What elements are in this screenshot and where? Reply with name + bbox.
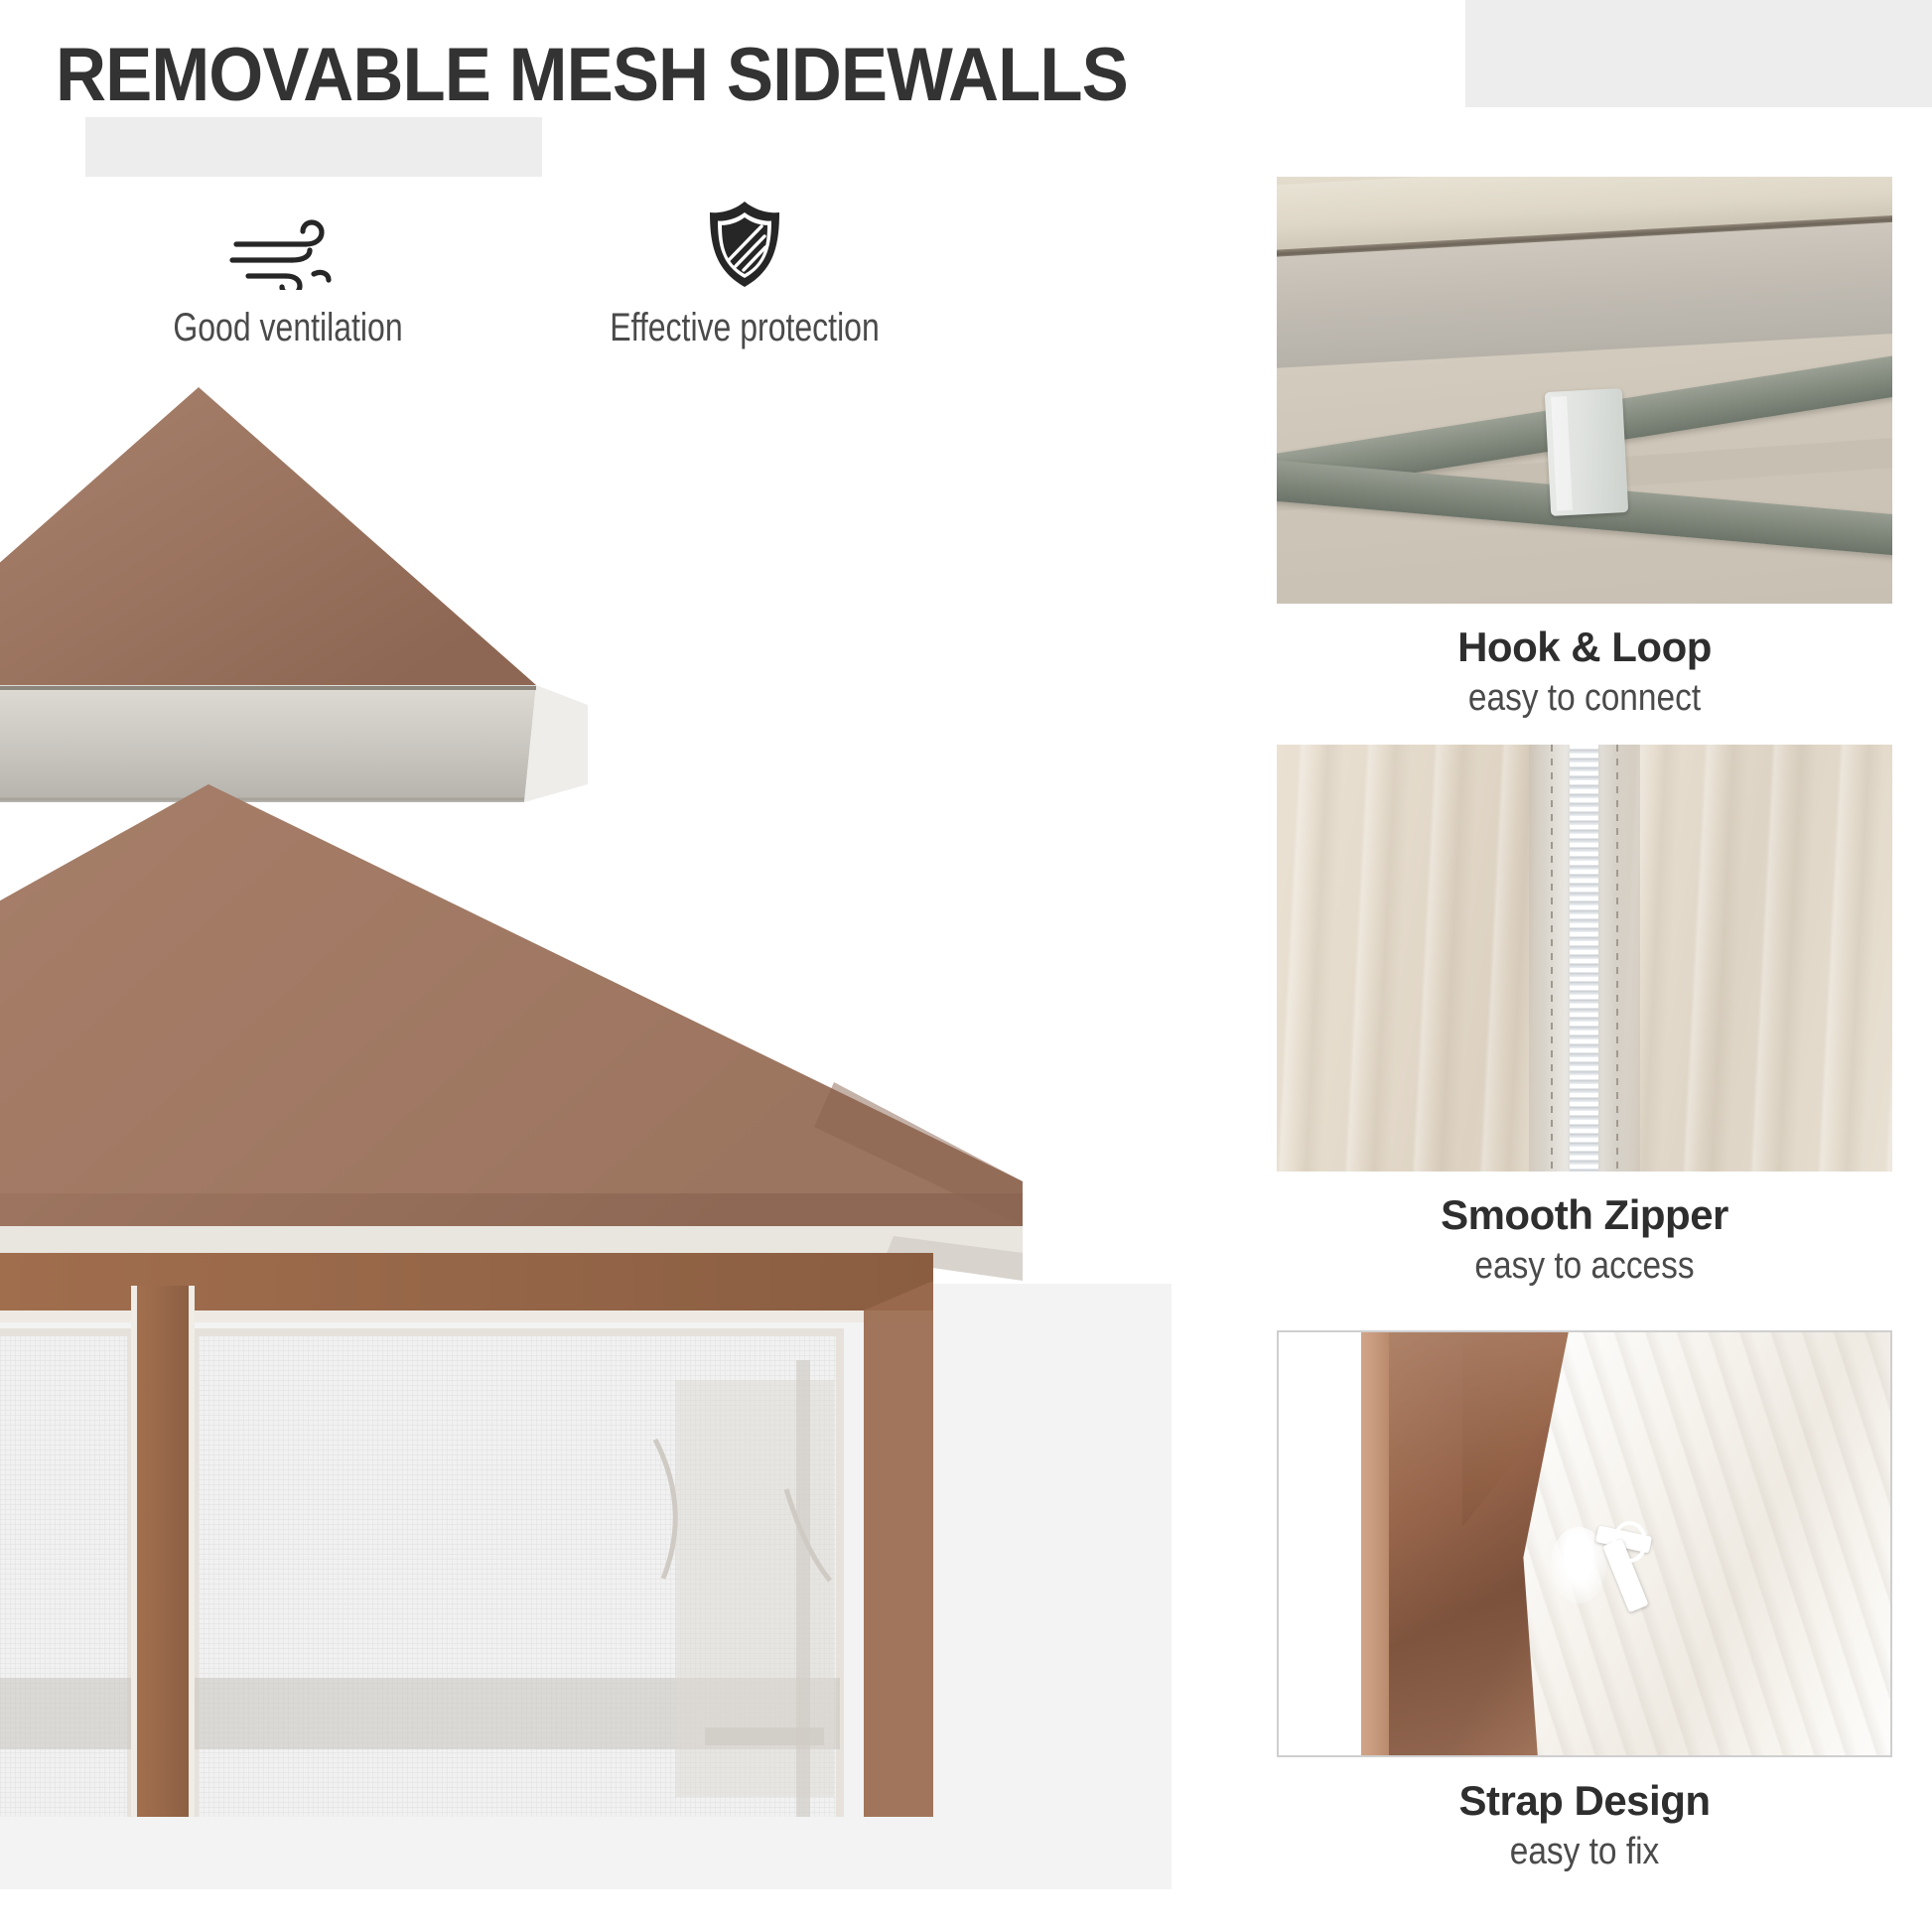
feature-card-strap-design: Strap Design easy to fix [1277, 1330, 1892, 1873]
feature-good-ventilation: Good ventilation [99, 199, 477, 350]
hook-loop-strap [1545, 388, 1628, 516]
card-title: Hook & Loop [1277, 623, 1892, 671]
card-subtitle: easy to access [1313, 1245, 1856, 1288]
zipper-teeth [1570, 745, 1598, 1172]
wind-icon [99, 199, 477, 290]
card-title: Strap Design [1277, 1777, 1892, 1825]
hook-and-loop-photo [1277, 177, 1892, 604]
decorative-gray-block-top-right [1465, 0, 1932, 107]
gazebo-illustration [0, 387, 1072, 1817]
strap-loop [1612, 1521, 1648, 1563]
strap-design-photo [1277, 1330, 1892, 1757]
shield-icon [556, 199, 933, 290]
page-title: REMOVABLE MESH SIDEWALLS [56, 34, 1128, 117]
card-subtitle: easy to fix [1313, 1831, 1856, 1873]
feature-label: Effective protection [594, 306, 896, 350]
feature-label: Good ventilation [137, 306, 439, 350]
infographic-canvas: REMOVABLE MESH SIDEWALLS Good ventilatio… [0, 0, 1932, 1932]
decorative-gray-block-under-title [85, 117, 542, 177]
feature-effective-protection: Effective protection [556, 199, 933, 350]
card-subtitle: easy to connect [1313, 677, 1856, 720]
smooth-zipper-photo [1277, 745, 1892, 1172]
feature-card-hook-and-loop: Hook & Loop easy to connect [1277, 177, 1892, 720]
card-title: Smooth Zipper [1277, 1191, 1892, 1239]
feature-card-smooth-zipper: Smooth Zipper easy to access [1277, 745, 1892, 1288]
